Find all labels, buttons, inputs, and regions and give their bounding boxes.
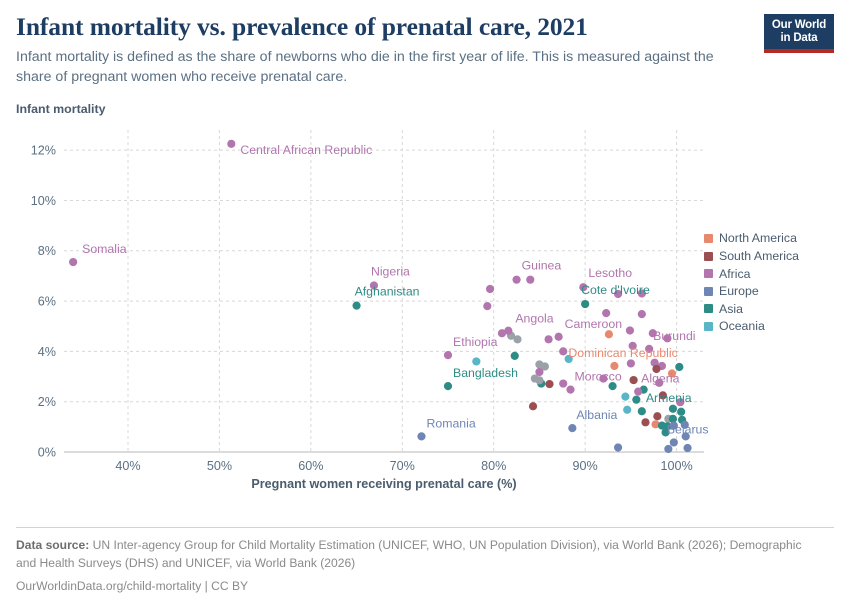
point-label: Guinea	[522, 258, 562, 272]
scatter-point[interactable]: Guinea	[512, 258, 561, 283]
point-label: Cameroon	[565, 316, 623, 330]
scatter-point[interactable]	[630, 376, 638, 384]
scatter-point[interactable]	[526, 275, 534, 283]
x-tick-label: 80%	[481, 459, 506, 473]
legend-swatch-icon	[704, 269, 713, 278]
x-tick-label: 100%	[660, 459, 692, 473]
point-label: Dominican Republic	[568, 346, 677, 360]
owid-logo[interactable]: Our World in Data	[764, 14, 834, 53]
scatter-point[interactable]: Cote d'Ivoire	[581, 283, 650, 308]
data-source: Data source: UN Inter-agency Group for C…	[16, 537, 806, 572]
continent-legend[interactable]: North AmericaSouth AmericaAfricaEuropeAs…	[704, 230, 826, 336]
scatter-point[interactable]: Morocco	[566, 369, 621, 393]
point-label: Central African Republic	[240, 142, 372, 156]
chart-subtitle: Infant mortality is defined as the share…	[16, 47, 746, 87]
scatter-point[interactable]	[472, 357, 480, 365]
point-label: Burundi	[653, 328, 695, 342]
x-axis-title: Pregnant women receiving prenatal care (…	[64, 477, 704, 491]
scatter-point[interactable]	[664, 445, 672, 453]
point-marker[interactable]	[621, 392, 629, 400]
legend-item-label: North America	[719, 231, 797, 245]
chart-footer: Data source: UN Inter-agency Group for C…	[16, 527, 834, 593]
scatter-point[interactable]	[638, 310, 646, 318]
legend-item-oceania[interactable]: Oceania	[704, 318, 826, 336]
point-marker[interactable]	[683, 444, 691, 452]
scatter-point[interactable]	[535, 376, 543, 384]
legend-swatch-icon	[704, 252, 713, 261]
point-label: Lesotho	[588, 266, 632, 280]
scatter-point[interactable]	[614, 443, 622, 451]
y-tick-label: 0%	[38, 445, 56, 459]
scatter-point[interactable]: Bangladesh	[444, 366, 518, 390]
scatter-point[interactable]	[529, 402, 537, 410]
point-marker[interactable]	[566, 385, 574, 393]
legend-item-label: Asia	[719, 302, 743, 316]
scatter-point[interactable]	[486, 285, 494, 293]
point-marker[interactable]	[483, 302, 491, 310]
scatter-point[interactable]	[559, 379, 567, 387]
point-marker[interactable]	[638, 407, 646, 415]
x-tick-label: 60%	[298, 459, 323, 473]
legend-item-europe[interactable]: Europe	[704, 282, 826, 300]
y-tick-label: 2%	[38, 395, 56, 409]
point-marker[interactable]	[544, 335, 552, 343]
point-label: Angola	[515, 311, 553, 325]
point-label: Nigeria	[371, 264, 410, 278]
legend-swatch-icon	[704, 234, 713, 243]
page-title: Infant mortality vs. prevalence of prena…	[16, 12, 834, 41]
scatter-point[interactable]	[632, 395, 640, 403]
legend-item-label: Europe	[719, 284, 759, 298]
scatter-point[interactable]	[623, 405, 631, 413]
scatter-point[interactable]	[513, 335, 521, 343]
y-axis-title: Infant mortality	[16, 102, 106, 116]
scatter-point[interactable]: Afghanistan	[352, 284, 419, 309]
license-line[interactable]: OurWorldinData.org/child-mortality | CC …	[16, 579, 834, 593]
point-marker[interactable]	[545, 380, 553, 388]
scatter-point[interactable]: Central African Republic	[227, 139, 372, 156]
point-marker[interactable]	[581, 300, 589, 308]
scatter-point[interactable]: Romania	[417, 416, 475, 440]
legend-item-south-america[interactable]: South America	[704, 247, 826, 265]
scatter-point[interactable]	[669, 404, 677, 412]
point-marker[interactable]	[486, 285, 494, 293]
scatter-point[interactable]: Cameroon	[555, 316, 623, 340]
point-marker[interactable]	[444, 382, 452, 390]
point-marker[interactable]	[529, 402, 537, 410]
scatter-point[interactable]	[605, 330, 613, 338]
point-label: Bangladesh	[453, 366, 518, 380]
scatter-point[interactable]	[683, 444, 691, 452]
chart-area: Infant mortality 0%2%4%6%8%10%12%40%50%6…	[16, 102, 834, 522]
point-marker[interactable]	[417, 432, 425, 440]
point-marker[interactable]	[605, 330, 613, 338]
point-marker[interactable]	[675, 362, 683, 370]
scatter-point[interactable]: Somalia	[69, 242, 127, 266]
scatter-point[interactable]: Ethiopia	[444, 335, 498, 359]
point-marker[interactable]	[535, 376, 543, 384]
legend-swatch-icon	[704, 322, 713, 331]
point-label: Ethiopia	[453, 335, 498, 349]
point-marker[interactable]	[352, 301, 360, 309]
point-marker[interactable]	[511, 351, 519, 359]
point-marker[interactable]	[568, 424, 576, 432]
scatter-point[interactable]	[544, 335, 552, 343]
point-marker[interactable]	[555, 332, 563, 340]
point-label: Afghanistan	[355, 284, 420, 298]
scatter-point[interactable]	[511, 351, 519, 359]
point-marker[interactable]	[632, 395, 640, 403]
y-tick-label: 10%	[31, 193, 56, 207]
point-label: Algeria	[641, 371, 679, 385]
y-tick-label: 4%	[38, 344, 56, 358]
data-source-label: Data source:	[16, 538, 89, 552]
point-marker[interactable]	[526, 275, 534, 283]
scatter-point[interactable]	[621, 392, 629, 400]
scatter-point[interactable]: Albania	[568, 408, 617, 432]
point-marker[interactable]	[623, 405, 631, 413]
data-source-text: UN Inter-agency Group for Child Mortalit…	[16, 538, 802, 570]
point-marker[interactable]	[634, 387, 642, 395]
point-label: Somalia	[82, 242, 127, 256]
point-marker[interactable]	[444, 351, 452, 359]
point-label: Cote d'Ivoire	[581, 283, 650, 297]
point-marker[interactable]	[670, 438, 678, 446]
x-tick-label: 40%	[115, 459, 140, 473]
chart-page: Infant mortality vs. prevalence of prena…	[0, 0, 850, 600]
x-tick-label: 90%	[573, 459, 598, 473]
scatter-point[interactable]	[483, 302, 491, 310]
legend-swatch-icon	[704, 304, 713, 313]
point-label: Armenia	[646, 391, 692, 405]
legend-item-label: Africa	[719, 267, 750, 281]
point-marker[interactable]	[677, 407, 685, 415]
point-label: Morocco	[575, 369, 622, 383]
owid-logo-line1: Our World	[766, 19, 832, 32]
point-marker[interactable]	[472, 357, 480, 365]
point-marker[interactable]	[638, 310, 646, 318]
point-marker[interactable]	[69, 258, 77, 266]
point-marker[interactable]	[614, 443, 622, 451]
scatter-point[interactable]	[675, 362, 683, 370]
scatter-point[interactable]	[626, 326, 634, 334]
point-marker[interactable]	[227, 139, 235, 147]
point-marker[interactable]	[641, 418, 649, 426]
point-marker[interactable]	[504, 326, 512, 334]
scatter-point[interactable]	[653, 412, 661, 420]
scatter-point[interactable]	[677, 407, 685, 415]
point-marker[interactable]	[626, 326, 634, 334]
point-marker[interactable]	[653, 412, 661, 420]
point-marker[interactable]	[664, 445, 672, 453]
point-marker[interactable]	[630, 376, 638, 384]
scatter-point[interactable]	[545, 380, 553, 388]
legend-item-label: Oceania	[719, 319, 765, 333]
legend-item-asia[interactable]: Asia	[704, 300, 826, 318]
point-marker[interactable]	[669, 404, 677, 412]
scatter-point[interactable]: Belarus	[667, 422, 709, 446]
owid-logo-line2: in Data	[766, 32, 832, 45]
scatter-point[interactable]	[627, 359, 635, 367]
point-label: Romania	[426, 416, 475, 430]
scatter-point[interactable]	[559, 347, 567, 355]
point-marker[interactable]	[559, 347, 567, 355]
legend-item-africa[interactable]: Africa	[704, 265, 826, 283]
point-marker[interactable]	[627, 359, 635, 367]
point-label: Belarus	[667, 422, 709, 436]
x-tick-label: 70%	[390, 459, 415, 473]
point-marker[interactable]	[513, 335, 521, 343]
point-label: Albania	[576, 408, 617, 422]
y-tick-label: 12%	[31, 143, 56, 157]
chart-header: Infant mortality vs. prevalence of prena…	[16, 0, 834, 88]
legend-item-north-america[interactable]: North America	[704, 230, 826, 248]
scatter-point[interactable]	[641, 418, 649, 426]
legend-item-label: South America	[719, 249, 799, 263]
point-marker[interactable]	[559, 379, 567, 387]
scatter-point[interactable]: Angola	[504, 311, 554, 334]
point-marker[interactable]	[512, 275, 520, 283]
x-tick-label: 50%	[207, 459, 232, 473]
y-tick-label: 8%	[38, 244, 56, 258]
y-tick-label: 6%	[38, 294, 56, 308]
legend-swatch-icon	[704, 287, 713, 296]
